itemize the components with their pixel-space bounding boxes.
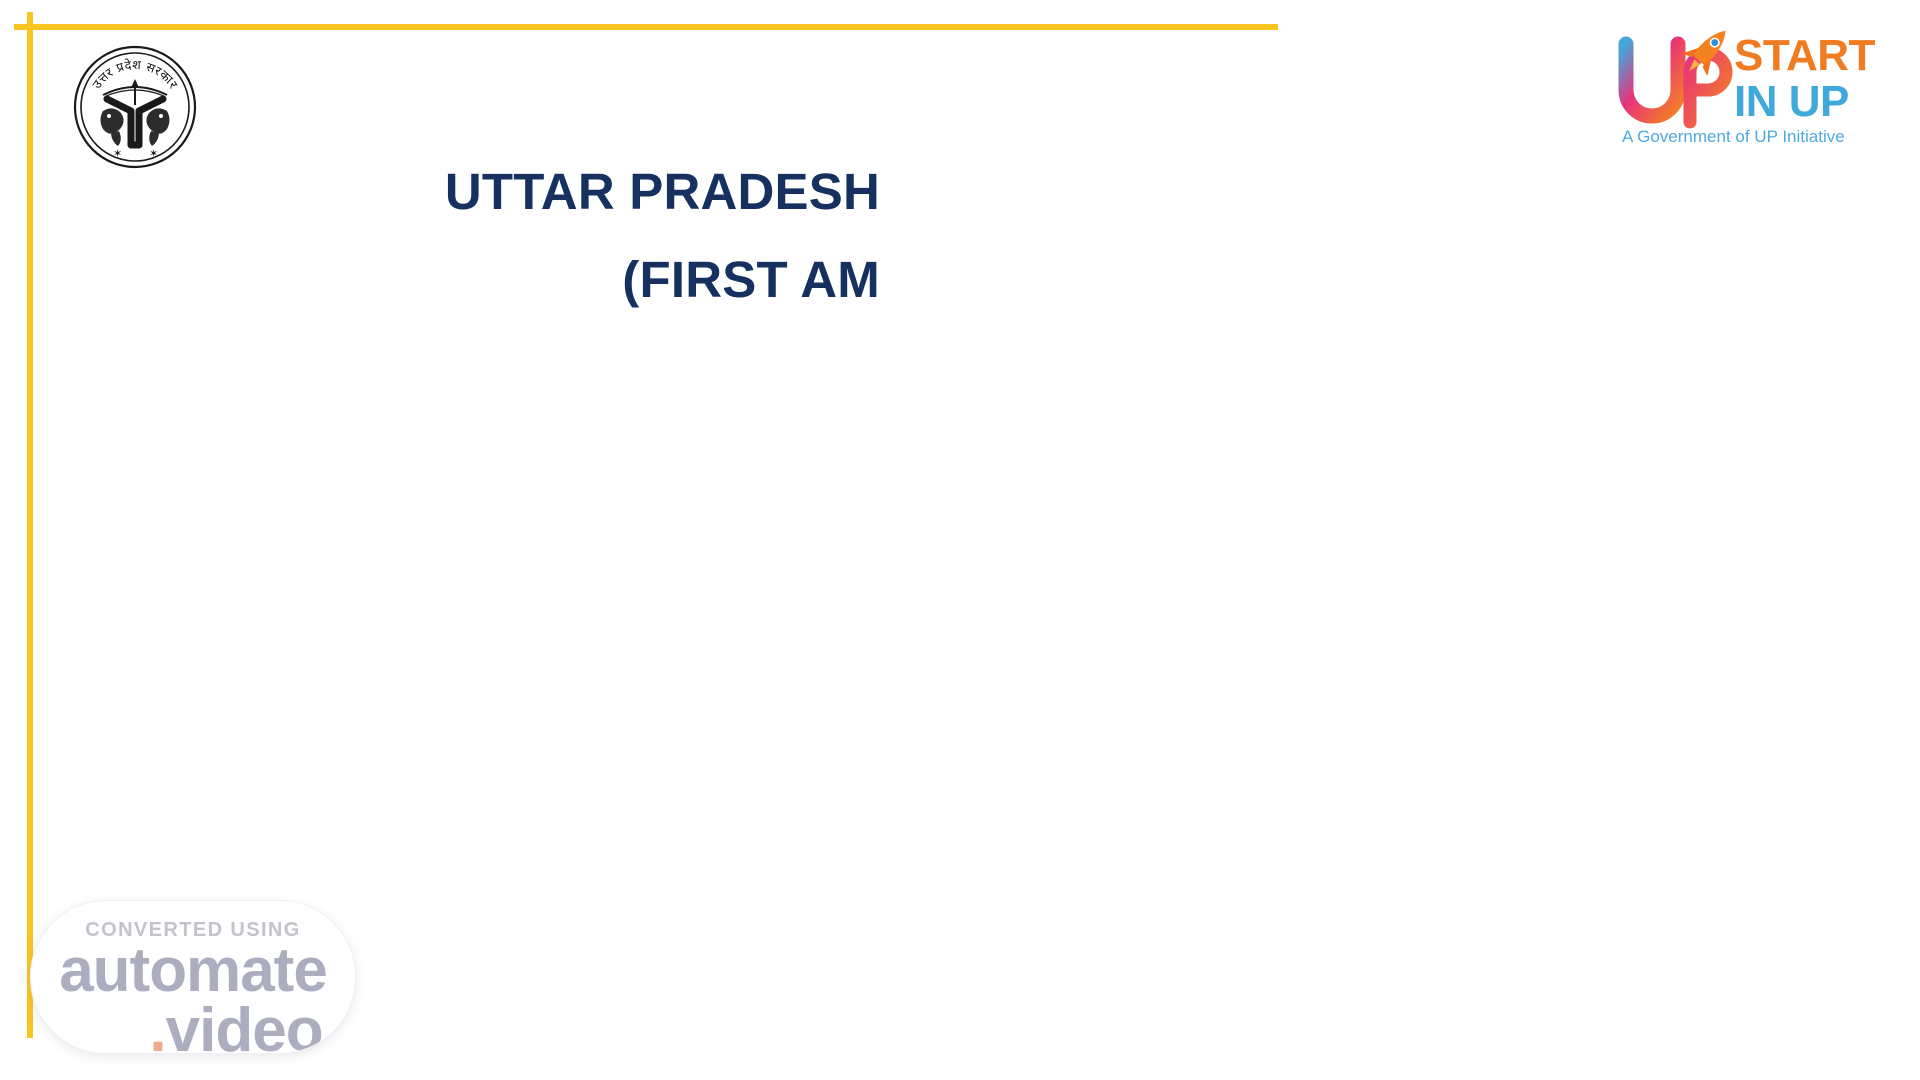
- presentation-slide: उत्तर प्रदेश सरकार ✶ ✶: [0, 0, 1920, 1080]
- horizontal-accent-rule: [14, 24, 1278, 30]
- watermark-tld-label: video: [166, 996, 323, 1054]
- automate-video-watermark: CONVERTED USING automate .video: [30, 900, 356, 1054]
- svg-text:IN UP: IN UP: [1734, 77, 1849, 126]
- start-in-up-logo: START IN UP A Government of UP Initiativ…: [1614, 18, 1904, 150]
- svg-text:START: START: [1734, 31, 1876, 80]
- slide-title-line-1: UTTAR PRADESH: [120, 148, 880, 236]
- slide-title: UTTAR PRADESH (FIRST AM: [120, 148, 880, 324]
- watermark-brand-name: automate: [31, 939, 355, 1002]
- svg-text:A Government of UP Initiative: A Government of UP Initiative: [1622, 127, 1845, 146]
- vertical-accent-rule: [27, 12, 33, 1038]
- watermark-dot: .: [149, 996, 165, 1054]
- watermark-brand-tld: .video: [31, 999, 355, 1054]
- slide-title-line-2: (FIRST AM: [120, 236, 880, 324]
